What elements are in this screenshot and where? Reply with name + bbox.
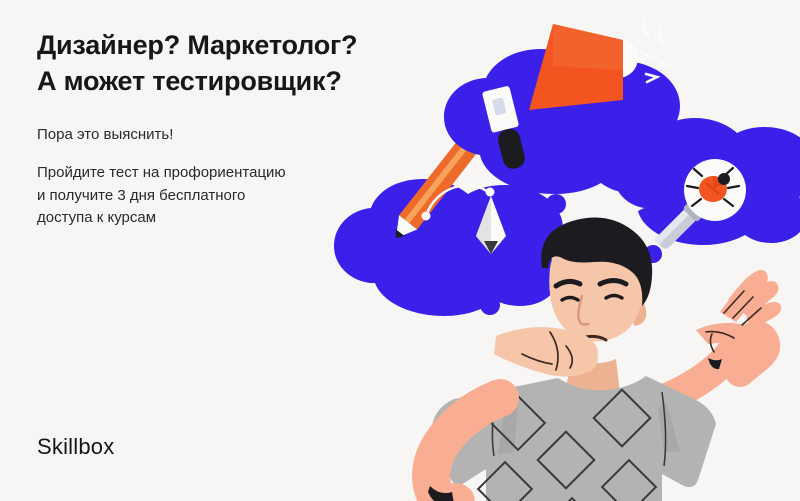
brand-logo: Skillbox (37, 434, 114, 460)
open-palm (662, 270, 781, 400)
head (541, 218, 652, 342)
pencil-bubble-tail-dot (480, 295, 500, 315)
megaphone-bubble-tail-dot (546, 194, 566, 214)
promo-banner: Дизайнер? Маркетолог? А может тестировщи… (0, 0, 800, 501)
chin-hand (494, 327, 598, 376)
illustration (310, 0, 800, 501)
body-line-2: и получите 3 дня бесплатного (37, 185, 357, 208)
body-copy: Пройдите тест на профориентацию и получи… (37, 162, 357, 230)
body-line-3: доступа к курсам (37, 207, 357, 230)
body-line-1: Пройдите тест на профориентацию (37, 162, 357, 185)
